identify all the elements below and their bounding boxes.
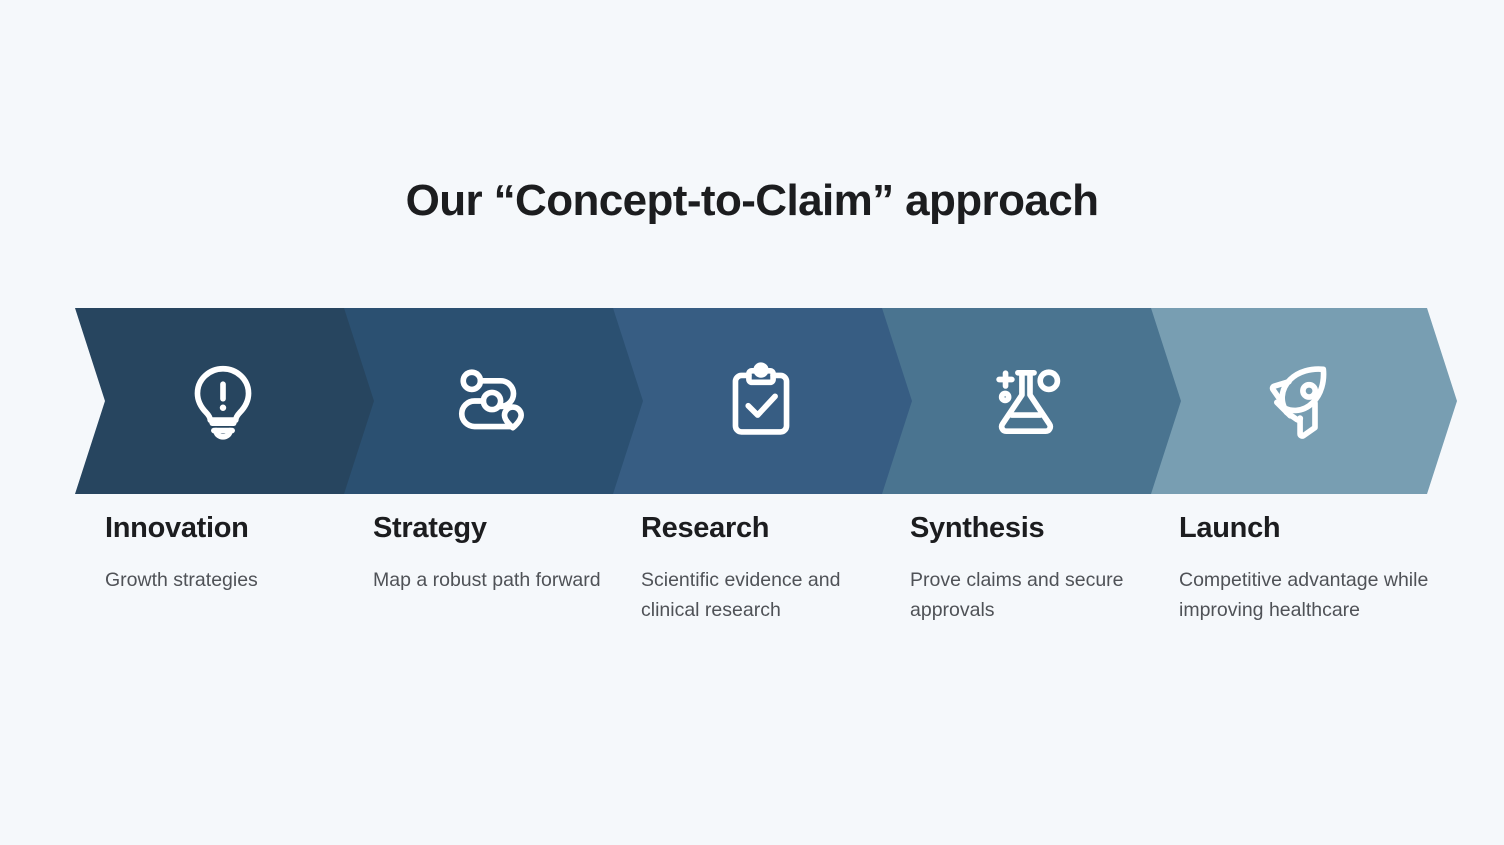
caption-desc-launch: Competitive advantage while improving he… bbox=[1179, 565, 1429, 626]
caption-research: Research Scientific evidence and clinica… bbox=[641, 514, 881, 626]
process-step-launch[interactable] bbox=[1151, 308, 1457, 494]
caption-title-innovation: Innovation bbox=[105, 514, 345, 543]
caption-desc-strategy: Map a robust path forward bbox=[373, 565, 603, 595]
process-step-innovation[interactable] bbox=[75, 308, 381, 494]
caption-title-strategy: Strategy bbox=[373, 514, 603, 543]
caption-synthesis: Synthesis Prove claims and secure approv… bbox=[910, 514, 1125, 626]
caption-launch: Launch Competitive advantage while impro… bbox=[1179, 514, 1429, 626]
caption-strategy: Strategy Map a robust path forward bbox=[373, 514, 603, 595]
chevron-shape-4 bbox=[882, 308, 1188, 494]
process-chevron-band bbox=[0, 308, 1504, 494]
caption-desc-research: Scientific evidence and clinical researc… bbox=[641, 565, 881, 626]
slide-canvas: Our “Concept-to-Claim” approach bbox=[0, 0, 1504, 845]
caption-desc-synthesis: Prove claims and secure approvals bbox=[910, 565, 1125, 626]
chevron-shape-5 bbox=[1151, 308, 1457, 494]
process-step-synthesis[interactable] bbox=[882, 308, 1188, 494]
chevron-shape-1 bbox=[75, 308, 381, 494]
caption-title-synthesis: Synthesis bbox=[910, 514, 1125, 543]
caption-desc-innovation: Growth strategies bbox=[105, 565, 345, 595]
chevron-shape-2 bbox=[344, 308, 650, 494]
page-title: Our “Concept-to-Claim” approach bbox=[0, 176, 1504, 226]
caption-title-research: Research bbox=[641, 514, 881, 543]
process-step-strategy[interactable] bbox=[344, 308, 650, 494]
chevron-shape-3 bbox=[613, 308, 919, 494]
caption-title-launch: Launch bbox=[1179, 514, 1429, 543]
process-step-research[interactable] bbox=[613, 308, 919, 494]
process-captions: Innovation Growth strategies Strategy Ma… bbox=[0, 514, 1504, 714]
caption-innovation: Innovation Growth strategies bbox=[105, 514, 345, 595]
